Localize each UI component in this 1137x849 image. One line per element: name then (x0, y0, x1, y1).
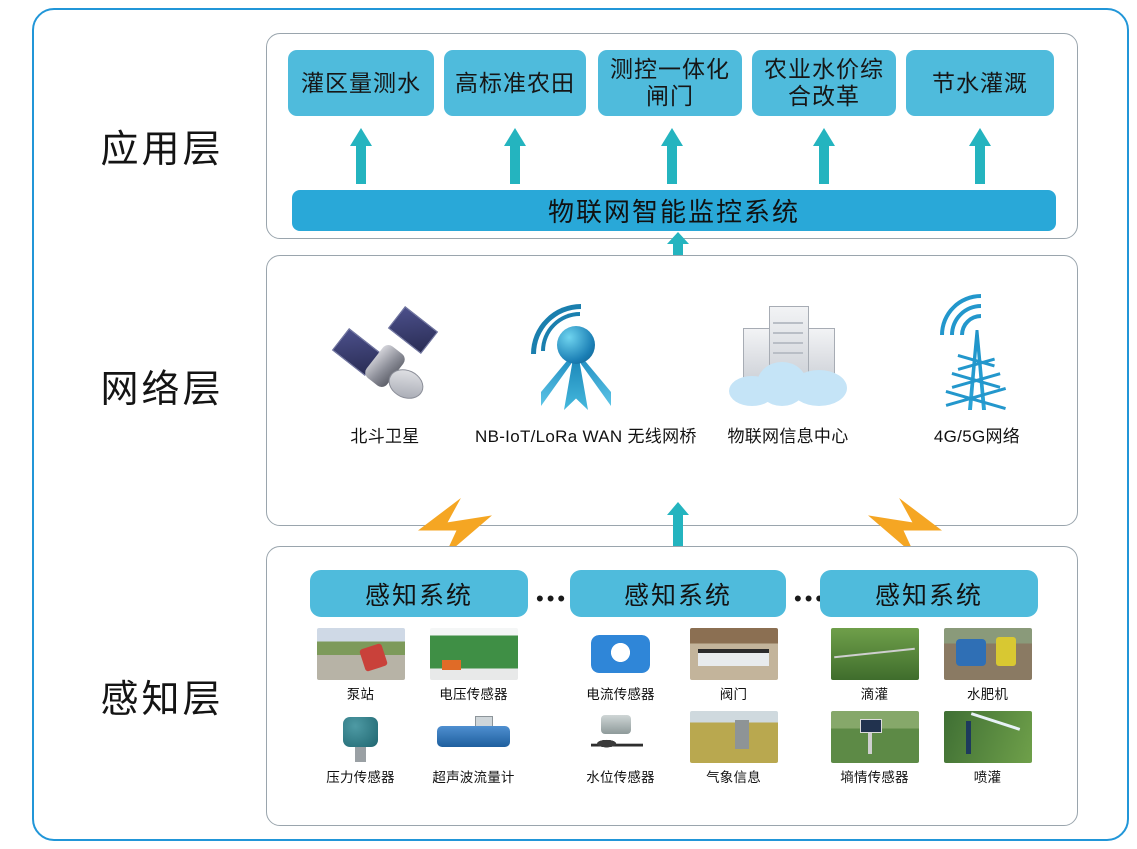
weather-station-photo (690, 711, 778, 763)
pressure-sensor-photo (317, 711, 405, 763)
voltage-sensor-photo (430, 628, 518, 680)
sensor-item-label: 超声波流量计 (425, 766, 522, 786)
ultrasonic-flowmeter-photo (430, 711, 518, 763)
network-node-label: 4G/5G网络 (922, 422, 1032, 447)
sensor-item-label: 电压传感器 (425, 683, 522, 703)
sensor-item-drip-irrigation[interactable]: 滴灌 (826, 628, 923, 703)
app-box-water-saving-irrigation[interactable]: 节水灌溉 (906, 50, 1054, 116)
sensor-item-valve[interactable]: 阀门 (685, 628, 782, 703)
sensor-item-sprinkler-irrigation[interactable]: 喷灌 (939, 711, 1036, 786)
app-box-irrigation-measurement[interactable]: 灌区量测水 (288, 50, 434, 116)
network-node-label: NB-IoT/LoRa WAN 无线网桥 (475, 422, 675, 447)
up-arrow-icon-2 (504, 128, 526, 184)
sensor-item-label: 压力传感器 (312, 766, 409, 786)
current-sensor-photo (577, 628, 665, 680)
network-node-wireless-bridge[interactable]: NB-IoT/LoRa WAN 无线网桥 (475, 300, 675, 447)
sensing-system-header-3[interactable]: 感知系统 (820, 570, 1038, 617)
sensor-item-water-level-sensor[interactable]: 水位传感器 (572, 711, 669, 786)
satellite-icon (330, 300, 440, 412)
sensor-item-label: 喷灌 (939, 766, 1036, 786)
valve-photo (690, 628, 778, 680)
sensor-item-pressure-sensor[interactable]: 压力传感器 (312, 711, 409, 786)
app-box-high-standard-farmland[interactable]: 高标准农田 (444, 50, 586, 116)
network-node-beidou-satellite[interactable]: 北斗卫星 (330, 300, 440, 447)
fertigation-machine-photo (944, 628, 1032, 680)
up-arrow-icon-1 (350, 128, 372, 184)
wireless-bridge-icon (475, 300, 675, 412)
sensor-item-weather-information[interactable]: 气象信息 (685, 711, 782, 786)
network-node-label: 北斗卫星 (330, 422, 440, 447)
up-arrow-icon-4 (813, 128, 835, 184)
layer-label-application: 应用层 (62, 118, 262, 173)
water-level-sensor-photo (577, 711, 665, 763)
sprinkler-irrigation-photo (944, 711, 1032, 763)
sensor-item-label: 墒情传感器 (826, 766, 923, 786)
group-separator-1: ••• (536, 586, 568, 612)
cloud-server-icon (718, 300, 858, 412)
sensor-item-current-sensor[interactable]: 电流传感器 (572, 628, 669, 703)
sensing-group-2: 电流传感器 阀门 水位传感器 气象信息 (572, 628, 782, 786)
up-arrow-icon-5 (969, 128, 991, 184)
sensing-group-1: 泵站 电压传感器 压力传感器 超声波流量计 (312, 628, 522, 786)
pump-station-photo (317, 628, 405, 680)
sensor-item-label: 气象信息 (685, 766, 782, 786)
drip-irrigation-photo (831, 628, 919, 680)
sensor-item-label: 阀门 (685, 683, 782, 703)
soil-moisture-sensor-photo (831, 711, 919, 763)
app-box-integrated-control-gate[interactable]: 测控一体化闸门 (598, 50, 742, 116)
network-node-4g-5g[interactable]: 4G/5G网络 (922, 300, 1032, 447)
iot-monitoring-system-bar[interactable]: 物联网智能监控系统 (292, 190, 1056, 231)
layer-label-perception: 感知层 (62, 668, 262, 723)
sensor-item-label: 水位传感器 (572, 766, 669, 786)
app-box-water-price-reform[interactable]: 农业水价综合改革 (752, 50, 896, 116)
network-node-label: 物联网信息中心 (718, 422, 858, 447)
sensor-item-label: 泵站 (312, 683, 409, 703)
sensor-item-label: 电流传感器 (572, 683, 669, 703)
sensor-item-label: 滴灌 (826, 683, 923, 703)
sensing-system-header-2[interactable]: 感知系统 (570, 570, 786, 617)
layer-label-network: 网络层 (62, 358, 262, 413)
sensor-item-voltage-sensor[interactable]: 电压传感器 (425, 628, 522, 703)
sensor-item-label: 水肥机 (939, 683, 1036, 703)
sensor-item-ultrasonic-flowmeter[interactable]: 超声波流量计 (425, 711, 522, 786)
sensing-system-header-1[interactable]: 感知系统 (310, 570, 528, 617)
sensor-item-soil-moisture-sensor[interactable]: 墒情传感器 (826, 711, 923, 786)
sensor-item-pump-station[interactable]: 泵站 (312, 628, 409, 703)
network-node-iot-data-center[interactable]: 物联网信息中心 (718, 300, 858, 447)
up-arrow-icon-3 (661, 128, 683, 184)
sensing-group-3: 滴灌 水肥机 墒情传感器 喷灌 (826, 628, 1036, 786)
cell-tower-icon (922, 300, 1032, 412)
sensor-item-fertigation-machine[interactable]: 水肥机 (939, 628, 1036, 703)
